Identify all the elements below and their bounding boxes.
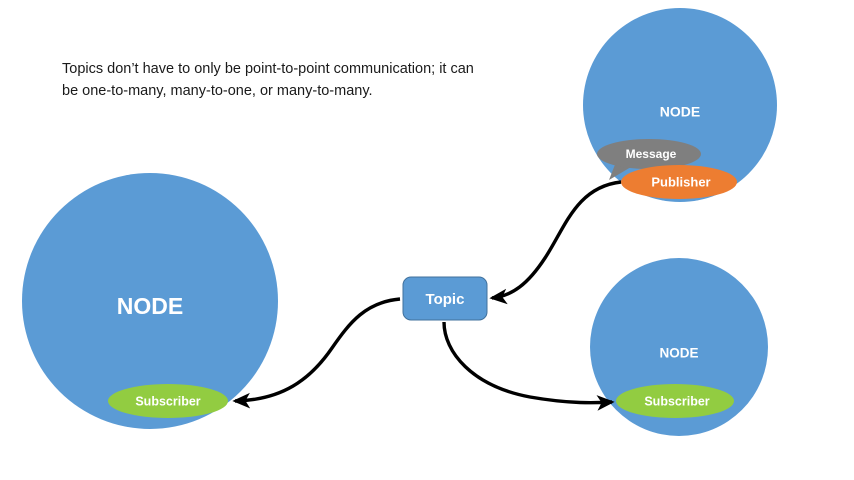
node-left-label: NODE [117, 293, 183, 319]
node-top-right-label: NODE [660, 104, 700, 120]
node-top-right[interactable]: NODE Message Publisher [583, 8, 777, 202]
node-left[interactable]: NODE Subscriber [22, 173, 278, 429]
diagram-canvas: NODE Subscriber NODE Message Publisher N… [0, 0, 854, 480]
caption-text: Topics don’t have to only be point-to-po… [62, 58, 482, 103]
arrow-topic-to-subscriber-right [444, 322, 612, 403]
subscriber-right-label: Subscriber [644, 394, 709, 408]
subscriber-left-label: Subscriber [135, 394, 200, 408]
message-label: Message [626, 147, 677, 161]
node-bottom-right-label: NODE [659, 346, 698, 361]
topic-box-label: Topic [426, 291, 465, 308]
publisher-label: Publisher [651, 174, 710, 189]
topic-box[interactable]: Topic [403, 277, 487, 320]
node-bottom-right[interactable]: NODE Subscriber [590, 258, 768, 436]
arrow-publisher-to-topic [492, 182, 621, 298]
